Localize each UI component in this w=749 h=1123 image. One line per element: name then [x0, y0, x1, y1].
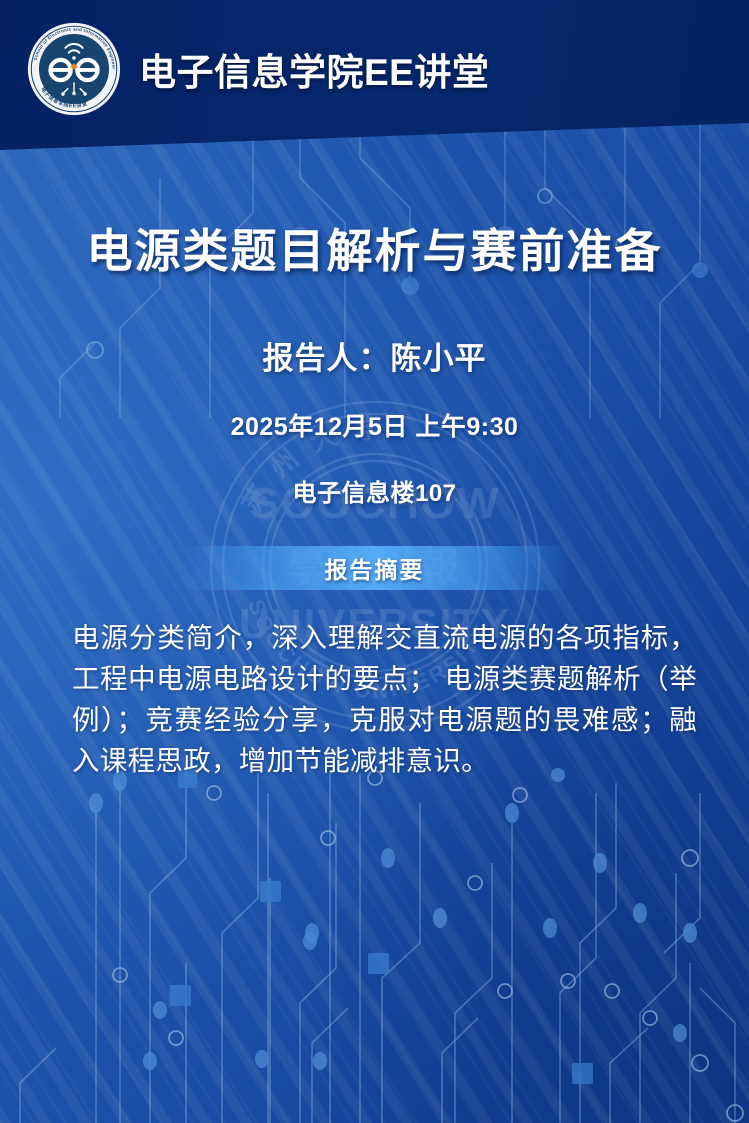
event-poster: 苏 州 大 学 SOOCHOW UNIVERSITY SOOCHOW 學中以報 …: [0, 0, 749, 1123]
poster-content: 电源类题目解析与赛前准备 报告人：陈小平 2025年12月5日 上午9:30 电…: [0, 137, 749, 781]
speaker-line: 报告人：陈小平: [0, 333, 749, 378]
abstract-label: 报告摘要: [325, 551, 425, 585]
ee-college-emblem-logo: School of Electronic and Information Eng…: [26, 21, 122, 117]
venue-line: 电子信息楼107: [0, 473, 749, 508]
circuit-trace-decoration-bottom: [0, 763, 749, 1123]
abstract-label-band: 报告摘要: [0, 546, 749, 590]
brand-title: 电子信息学院EE讲堂: [139, 42, 489, 96]
poster-header: School of Electronic and Information Eng…: [0, 0, 749, 150]
talk-title: 电源类题目解析与赛前准备: [0, 215, 749, 281]
abstract-body: 电源分类简介，深入理解交直流电源的各项指标，工程中电源电路设计的要点； 电源类赛…: [72, 617, 697, 781]
datetime-line: 2025年12月5日 上午9:30: [0, 407, 749, 443]
